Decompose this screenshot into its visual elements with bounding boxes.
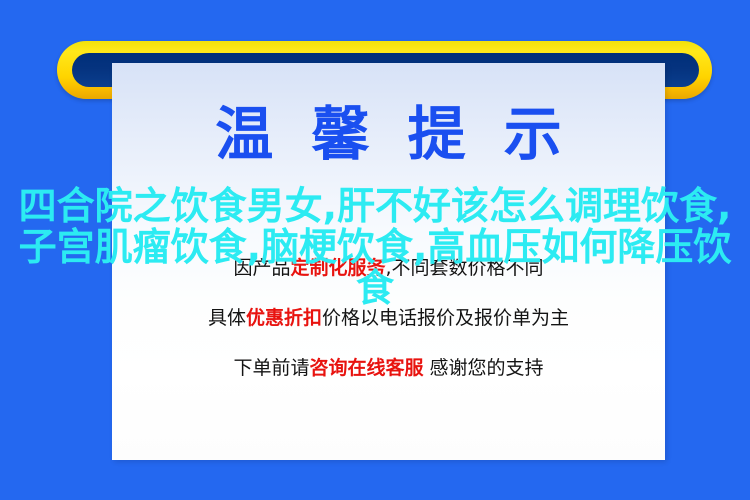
notice-line-2: 具体优惠折扣价格以电话报价及报价单为主 [136,309,641,328]
notice-line-2-part-3: 价格以电话报价及报价单为主 [322,307,569,329]
notice-line-2-part-1: 具体 [208,307,246,329]
notice-line-3-highlight[interactable]: 咨询在线客服 [309,357,423,379]
notice-line-3-part-1: 下单前请 [233,357,309,379]
promo-banner-image: 温 馨 提 示 因产品定制化服务,不同套数价格不同 具体优惠折扣价格以电话报价及… [0,0,750,500]
notice-line-3: 下单前请咨询在线客服 感谢您的支持 [136,359,641,378]
notice-line-1-part-3: ,不同套数价格不同 [385,257,543,279]
notice-line-1-part-1: 因产品 [233,257,290,279]
notice-line-2-highlight: 优惠折扣 [246,307,322,329]
notice-line-3-part-3: 感谢您的支持 [423,357,543,379]
notice-line-1: 因产品定制化服务,不同套数价格不同 [136,259,641,278]
page-title: 温 馨 提 示 [112,105,665,163]
notice-body: 因产品定制化服务,不同套数价格不同 具体优惠折扣价格以电话报价及报价单为主 下单… [136,259,641,378]
notice-card: 温 馨 提 示 因产品定制化服务,不同套数价格不同 具体优惠折扣价格以电话报价及… [112,63,665,460]
notice-line-1-highlight: 定制化服务 [290,257,385,279]
